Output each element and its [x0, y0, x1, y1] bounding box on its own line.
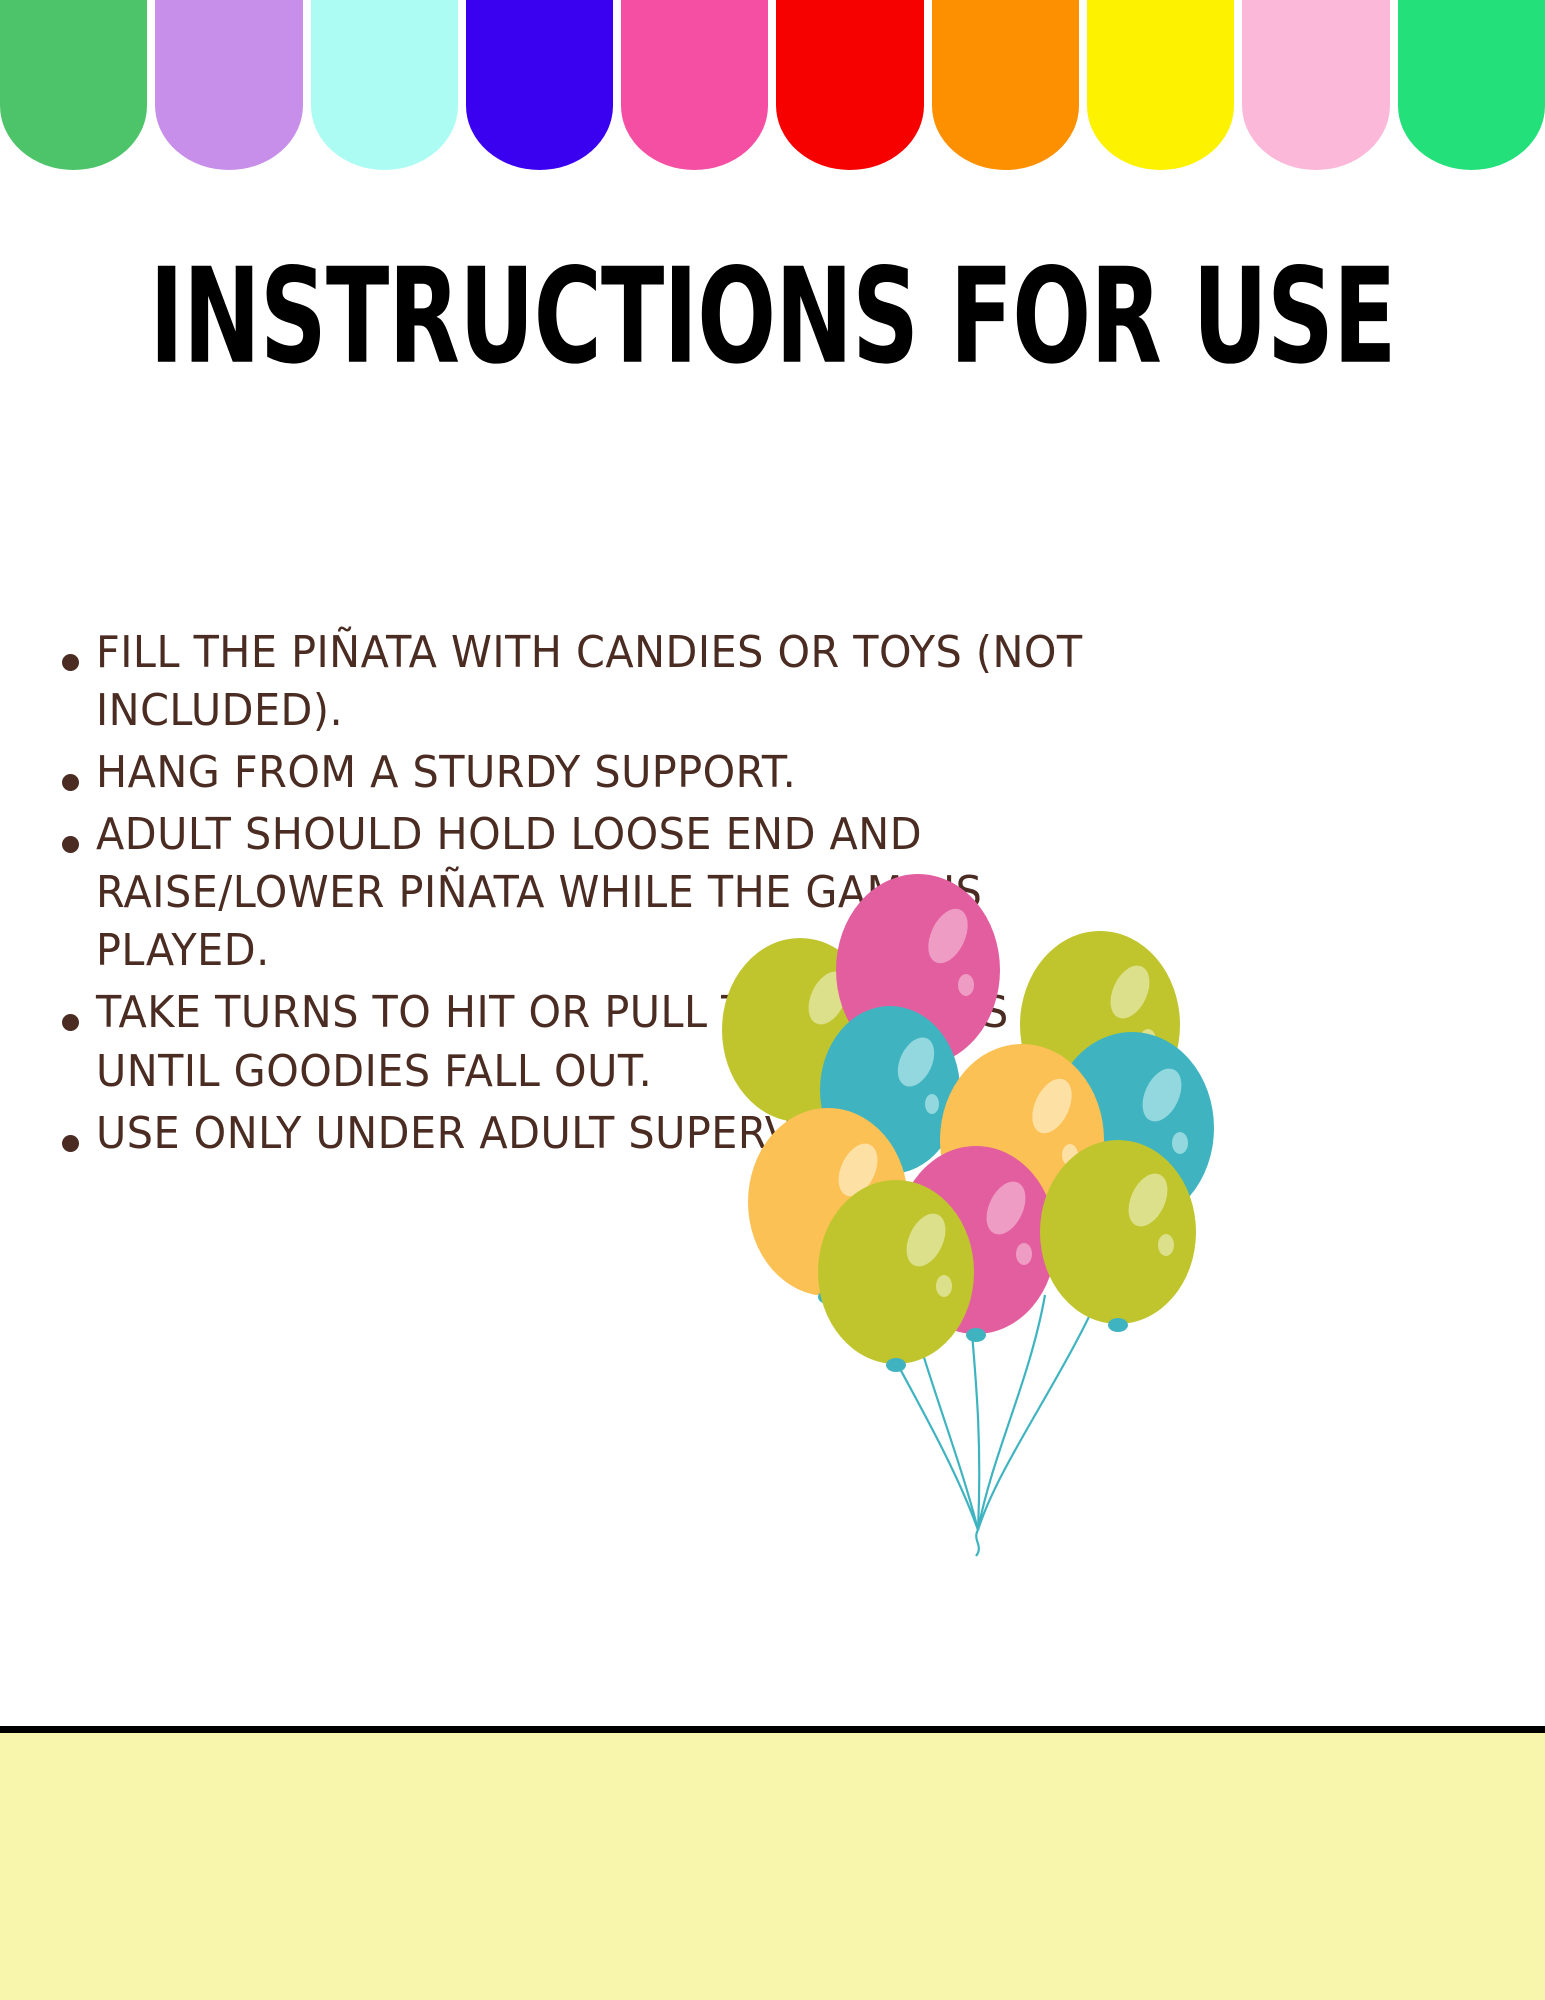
footer-divider — [0, 1726, 1545, 1733]
balloon-olive-front-right — [1040, 1140, 1196, 1332]
scallop-mint — [1398, 0, 1545, 170]
bullet-icon — [62, 624, 96, 671]
bullet-icon — [62, 1105, 96, 1152]
scallop-aqua — [311, 0, 458, 170]
bullet-icon — [62, 744, 96, 791]
list-item-label: FILL THE PIÑATA WITH CANDIES OR TOYS (NO… — [96, 624, 1089, 740]
bullet-icon — [62, 984, 96, 1031]
bullet-icon — [62, 806, 96, 853]
list-item: HANG FROM A STURDY SUPPORT. — [62, 744, 1152, 802]
list-item: FILL THE PIÑATA WITH CANDIES OR TOYS (NO… — [62, 624, 1152, 740]
scallop-orange — [932, 0, 1079, 170]
scallop-lavender — [155, 0, 302, 170]
scallop-red — [776, 0, 923, 170]
balloon-olive-front-left — [818, 1180, 974, 1372]
scallop-yellow — [1087, 0, 1234, 170]
scallop-blue — [466, 0, 613, 170]
scallop-magenta — [621, 0, 768, 170]
footer-band — [0, 1733, 1545, 2000]
scallop-green — [0, 0, 147, 170]
list-item-label: HANG FROM A STURDY SUPPORT. — [96, 744, 1089, 802]
poster-page: INSTRUCTIONS FOR USE FILL THE PIÑATA WIT… — [0, 0, 1545, 2000]
scalloped-rainbow-banner — [0, 0, 1545, 170]
page-title: INSTRUCTIONS FOR USE — [108, 252, 1437, 384]
balloon-cluster-illustration — [700, 840, 1230, 1540]
scallop-pink — [1242, 0, 1389, 170]
